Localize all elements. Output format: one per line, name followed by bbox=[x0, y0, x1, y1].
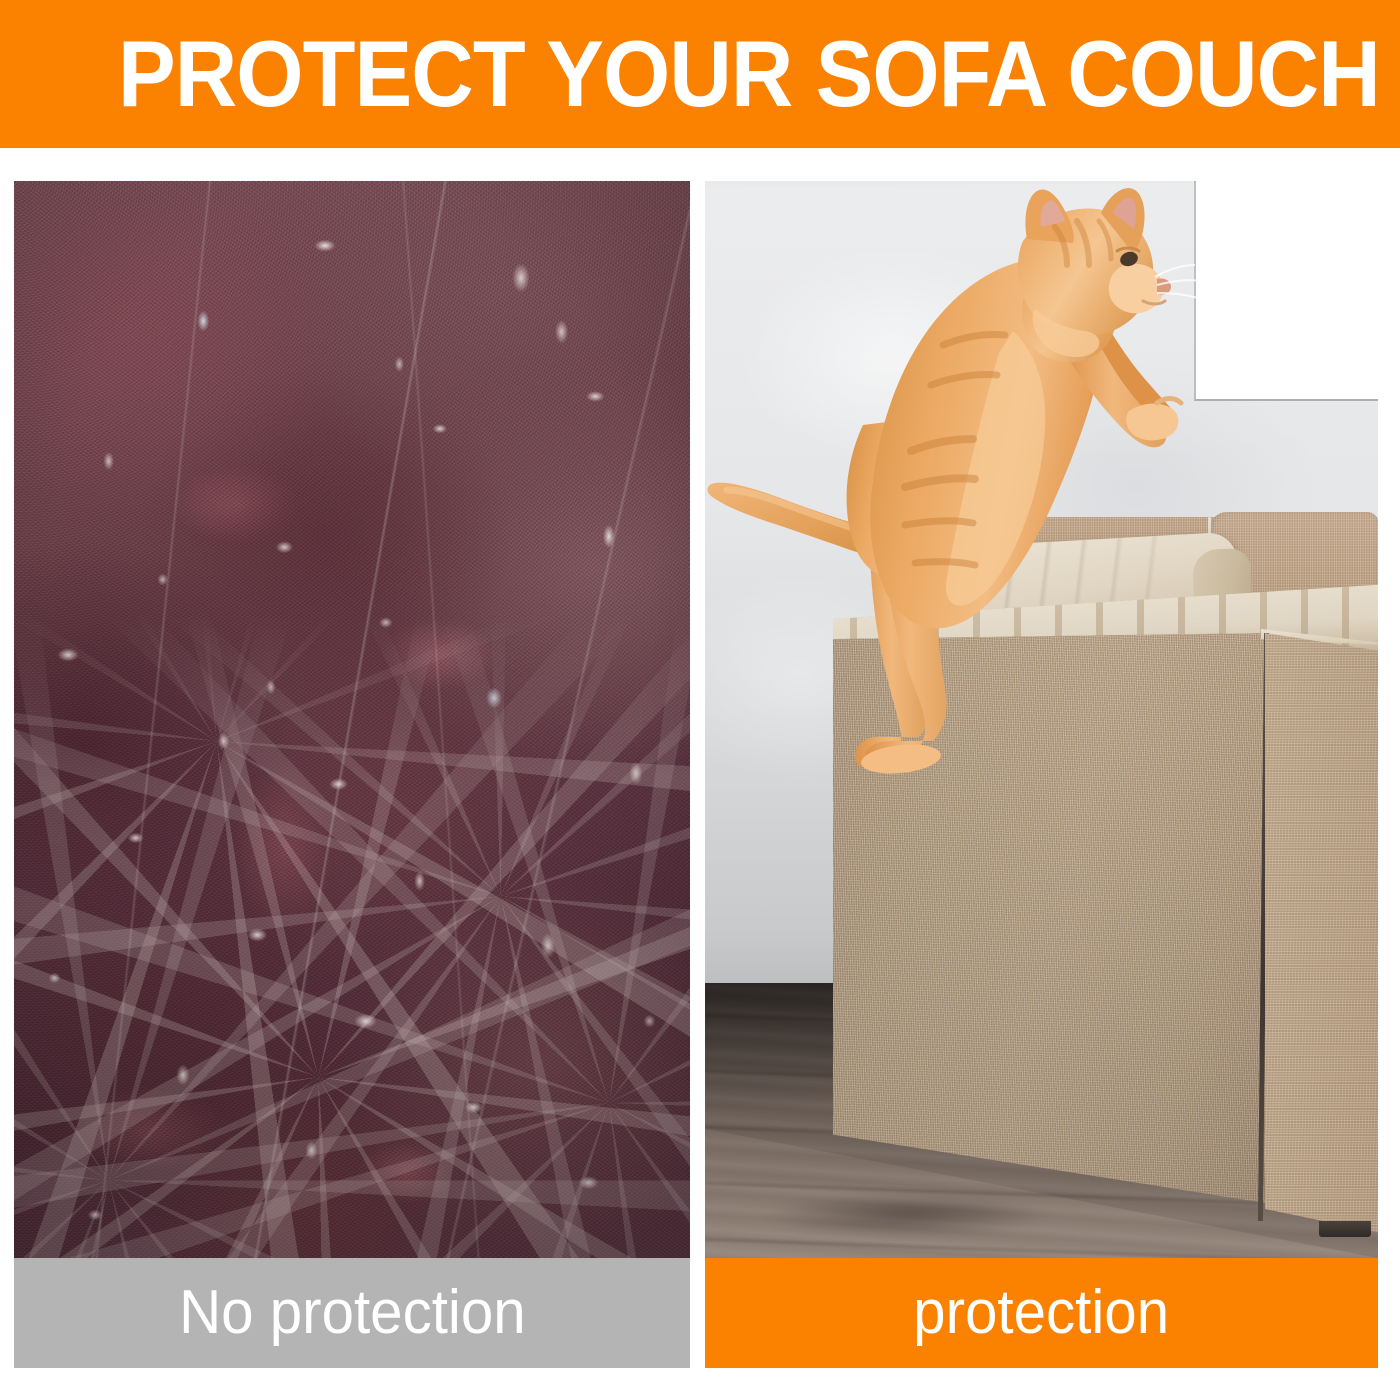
room-scene bbox=[705, 181, 1378, 1258]
orange-tabby-kitten bbox=[705, 181, 1378, 1258]
label-bar-no-protection: No protection bbox=[14, 1258, 690, 1368]
cat-front-paw bbox=[1126, 404, 1178, 441]
header-banner: PROTECT YOUR SOFA COUCH bbox=[0, 0, 1400, 148]
label-no-protection: No protection bbox=[179, 1281, 526, 1345]
comparison-panel-right bbox=[705, 181, 1378, 1258]
photo-vignette bbox=[14, 181, 690, 1258]
cat-muzzle bbox=[1109, 264, 1164, 314]
label-bar-protection: protection bbox=[705, 1258, 1378, 1368]
comparison-panels: No protection protection bbox=[0, 148, 1400, 1400]
label-protection: protection bbox=[914, 1281, 1170, 1345]
page-title: PROTECT YOUR SOFA COUCH bbox=[118, 26, 1380, 122]
damaged-leather-photo bbox=[14, 181, 690, 1258]
comparison-panel-left bbox=[14, 181, 690, 1258]
protected-sofa-photo bbox=[705, 181, 1378, 1258]
